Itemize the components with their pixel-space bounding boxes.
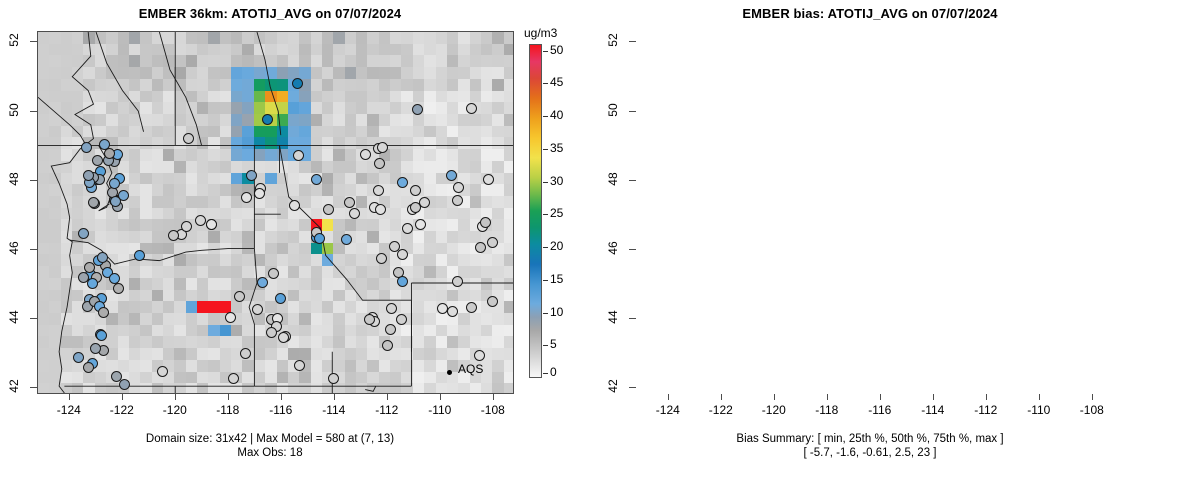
observation-site-marker	[294, 360, 305, 371]
x-tick-mark	[668, 394, 669, 400]
y-tick-mark	[30, 249, 37, 250]
observation-site-marker	[98, 307, 109, 318]
y-tick-mark	[30, 111, 37, 112]
observation-site-marker	[293, 150, 304, 161]
colorbar-tick-mark	[543, 182, 548, 183]
observation-site-marker	[111, 371, 122, 382]
x-tick-mark	[440, 394, 441, 400]
x-tick-label: -120	[752, 403, 796, 417]
observation-site-marker	[410, 185, 421, 196]
observation-site-marker	[110, 196, 121, 207]
observation-site-marker	[83, 362, 94, 373]
y-tick-label: 50	[7, 99, 21, 121]
figure-root: EMBER 36km: ATOTIJ_AVG on 07/07/2024 AQS…	[0, 0, 1200, 479]
observation-site-marker	[289, 200, 300, 211]
y-tick-label: 52	[606, 29, 620, 51]
y-tick-label: 52	[7, 29, 21, 51]
observation-site-marker	[410, 202, 421, 213]
panel-bias: EMBER bias: ATOTIJ_AVG on 07/07/2024 AQS…	[600, 0, 1200, 479]
observation-site-marker	[412, 104, 423, 115]
observation-site-marker	[314, 233, 325, 244]
observation-site-marker	[415, 219, 426, 230]
observation-site-marker	[466, 103, 477, 114]
observation-site-marker	[262, 114, 273, 125]
observation-site-marker	[452, 195, 463, 206]
observation-site-marker	[268, 268, 279, 279]
caption-line-2: Max Obs: 18	[0, 446, 540, 460]
observation-site-marker	[311, 174, 322, 185]
colorbar-tick-mark	[543, 373, 548, 374]
observation-site-marker	[183, 133, 194, 144]
x-tick-label: -110	[418, 403, 462, 417]
x-tick-label: -124	[47, 403, 91, 417]
observation-site-marker	[475, 242, 486, 253]
observation-site-marker	[73, 352, 84, 363]
colorbar-tick-mark	[543, 345, 548, 346]
observation-site-marker	[252, 304, 263, 315]
observation-site-marker	[349, 208, 360, 219]
observation-site-marker	[83, 170, 94, 181]
colorbar-gradient-model	[529, 44, 542, 378]
y-tick-label: 44	[7, 306, 21, 328]
x-tick-label: -124	[646, 403, 690, 417]
observation-site-marker	[373, 185, 384, 196]
x-tick-mark	[122, 394, 123, 400]
observation-site-marker	[88, 197, 99, 208]
y-tick-label: 46	[7, 237, 21, 259]
observation-site-marker	[109, 178, 120, 189]
colorbar-tick-label: 45	[550, 75, 563, 89]
x-tick-mark	[228, 394, 229, 400]
x-tick-label: -114	[911, 403, 955, 417]
x-tick-mark	[493, 394, 494, 400]
colorbar-tick-mark	[543, 149, 548, 150]
observation-site-marker	[195, 215, 206, 226]
observation-site-marker	[323, 204, 334, 215]
x-tick-label: -116	[259, 403, 303, 417]
observation-site-marker	[206, 219, 217, 230]
colorbar-tick-mark	[543, 247, 548, 248]
colorbar-tick-label: 15	[550, 272, 563, 286]
map-plot-model: AQS	[37, 31, 514, 394]
x-tick-label: -112	[365, 403, 409, 417]
caption-line-2: [ -5.7, -1.6, -0.61, 2.5, 23 ]	[600, 446, 1140, 460]
observation-site-marker	[397, 249, 408, 260]
x-tick-label: -108	[471, 403, 515, 417]
y-tick-label: 42	[7, 375, 21, 397]
observation-site-marker	[225, 312, 236, 323]
colorbar-tick-mark	[543, 51, 548, 52]
x-tick-mark	[933, 394, 934, 400]
x-tick-label: -110	[1017, 403, 1061, 417]
observation-site-marker	[341, 234, 352, 245]
x-tick-label: -118	[805, 403, 849, 417]
observation-site-marker	[96, 330, 107, 341]
panel-title-model: EMBER 36km: ATOTIJ_AVG on 07/07/2024	[0, 6, 540, 21]
x-tick-mark	[827, 394, 828, 400]
colorbar-tick-label: 5	[550, 337, 557, 351]
observation-site-marker	[228, 373, 239, 384]
aqs-legend-label-model: AQS	[458, 362, 483, 376]
y-tick-mark	[30, 318, 37, 319]
colorbar-tick-mark	[543, 214, 548, 215]
colorbar-tick-label: 20	[550, 239, 563, 253]
y-tick-mark	[629, 387, 636, 388]
observation-site-marker	[480, 217, 491, 228]
observation-site-marker	[275, 293, 286, 304]
x-tick-label: -116	[858, 403, 902, 417]
y-tick-mark	[30, 180, 37, 181]
observation-site-marker	[181, 221, 192, 232]
observation-site-marker	[241, 192, 252, 203]
y-tick-mark	[30, 41, 37, 42]
observation-site-marker	[157, 366, 168, 377]
observation-site-marker	[453, 182, 464, 193]
x-tick-mark	[986, 394, 987, 400]
observation-site-marker	[386, 303, 397, 314]
colorbar-tick-mark	[543, 116, 548, 117]
observation-site-marker	[254, 188, 265, 199]
observation-site-marker	[240, 348, 251, 359]
colorbar-tick-label: 40	[550, 108, 563, 122]
x-tick-mark	[1039, 394, 1040, 400]
y-tick-label: 46	[606, 237, 620, 259]
observation-site-marker	[78, 228, 89, 239]
observation-site-marker	[168, 230, 179, 241]
observation-site-marker	[452, 276, 463, 287]
x-tick-label: -112	[964, 403, 1008, 417]
observation-site-marker	[402, 223, 413, 234]
observation-site-marker	[92, 155, 103, 166]
observation-site-marker	[119, 379, 130, 390]
x-tick-mark	[69, 394, 70, 400]
x-tick-mark	[1092, 394, 1093, 400]
observation-site-marker	[278, 332, 289, 343]
y-tick-label: 48	[606, 168, 620, 190]
observation-site-marker	[483, 174, 494, 185]
observation-site-marker	[377, 142, 388, 153]
observation-site-marker	[134, 250, 145, 261]
x-tick-label: -122	[100, 403, 144, 417]
x-tick-label: -108	[1070, 403, 1114, 417]
x-tick-mark	[880, 394, 881, 400]
observation-site-marker	[397, 177, 408, 188]
colorbar-tick-mark	[543, 83, 548, 84]
observation-site-marker	[328, 373, 339, 384]
y-tick-label: 48	[7, 168, 21, 190]
observation-site-marker	[487, 296, 498, 307]
observation-site-marker	[113, 283, 124, 294]
observation-site-marker	[487, 237, 498, 248]
colorbar-unit-model: ug/m3	[524, 26, 557, 40]
observation-site-marker	[376, 253, 387, 264]
y-tick-mark	[30, 387, 37, 388]
observation-site-marker	[234, 291, 245, 302]
x-tick-mark	[175, 394, 176, 400]
observation-site-marker	[81, 142, 92, 153]
panel-model: EMBER 36km: ATOTIJ_AVG on 07/07/2024 AQS…	[0, 0, 600, 479]
colorbar-tick-mark	[543, 313, 548, 314]
y-tick-mark	[629, 249, 636, 250]
observation-site-marker	[344, 197, 355, 208]
colorbar-tick-label: 30	[550, 174, 563, 188]
observation-site-marker	[446, 170, 457, 181]
observation-site-marker	[257, 277, 268, 288]
x-tick-label: -122	[699, 403, 743, 417]
x-tick-mark	[721, 394, 722, 400]
observation-site-marker	[385, 324, 396, 335]
x-tick-label: -120	[153, 403, 197, 417]
observation-site-marker	[466, 302, 477, 313]
y-tick-mark	[629, 180, 636, 181]
caption-line-1: Domain size: 31x42 | Max Model = 580 at …	[0, 432, 540, 446]
observation-site-marker	[360, 149, 371, 160]
y-tick-mark	[629, 111, 636, 112]
observation-site-marker	[374, 158, 385, 169]
x-tick-mark	[281, 394, 282, 400]
colorbar-tick-label: 25	[550, 206, 563, 220]
observation-site-marker	[266, 327, 277, 338]
x-tick-mark	[334, 394, 335, 400]
x-tick-label: -114	[312, 403, 356, 417]
aqs-legend-dot	[447, 370, 452, 375]
x-tick-mark	[774, 394, 775, 400]
colorbar-tick-label: 50	[550, 43, 563, 57]
colorbar-tick-label: 0	[550, 365, 557, 379]
colorbar-tick-mark	[543, 280, 548, 281]
y-tick-label: 44	[606, 306, 620, 328]
y-tick-label: 50	[606, 99, 620, 121]
observation-site-marker	[246, 170, 257, 181]
observation-site-marker	[382, 340, 393, 351]
observation-site-marker	[292, 78, 303, 89]
y-tick-mark	[629, 41, 636, 42]
x-tick-mark	[387, 394, 388, 400]
caption-line-1: Bias Summary: [ min, 25th %, 50th %, 75t…	[600, 432, 1140, 446]
observation-site-marker	[474, 350, 485, 361]
observation-site-marker	[447, 306, 458, 317]
y-tick-label: 42	[606, 375, 620, 397]
caption-bias: Bias Summary: [ min, 25th %, 50th %, 75t…	[600, 432, 1140, 460]
observation-site-marker	[375, 204, 386, 215]
observation-site-marker	[397, 276, 408, 287]
colorbar-tick-label: 35	[550, 141, 563, 155]
obs-points-model	[38, 32, 513, 393]
x-tick-label: -118	[206, 403, 250, 417]
y-tick-mark	[629, 318, 636, 319]
observation-site-marker	[396, 314, 407, 325]
panel-title-bias: EMBER bias: ATOTIJ_AVG on 07/07/2024	[600, 6, 1140, 21]
colorbar-tick-label: 10	[550, 305, 563, 319]
caption-model: Domain size: 31x42 | Max Model = 580 at …	[0, 432, 540, 460]
observation-site-marker	[87, 278, 98, 289]
